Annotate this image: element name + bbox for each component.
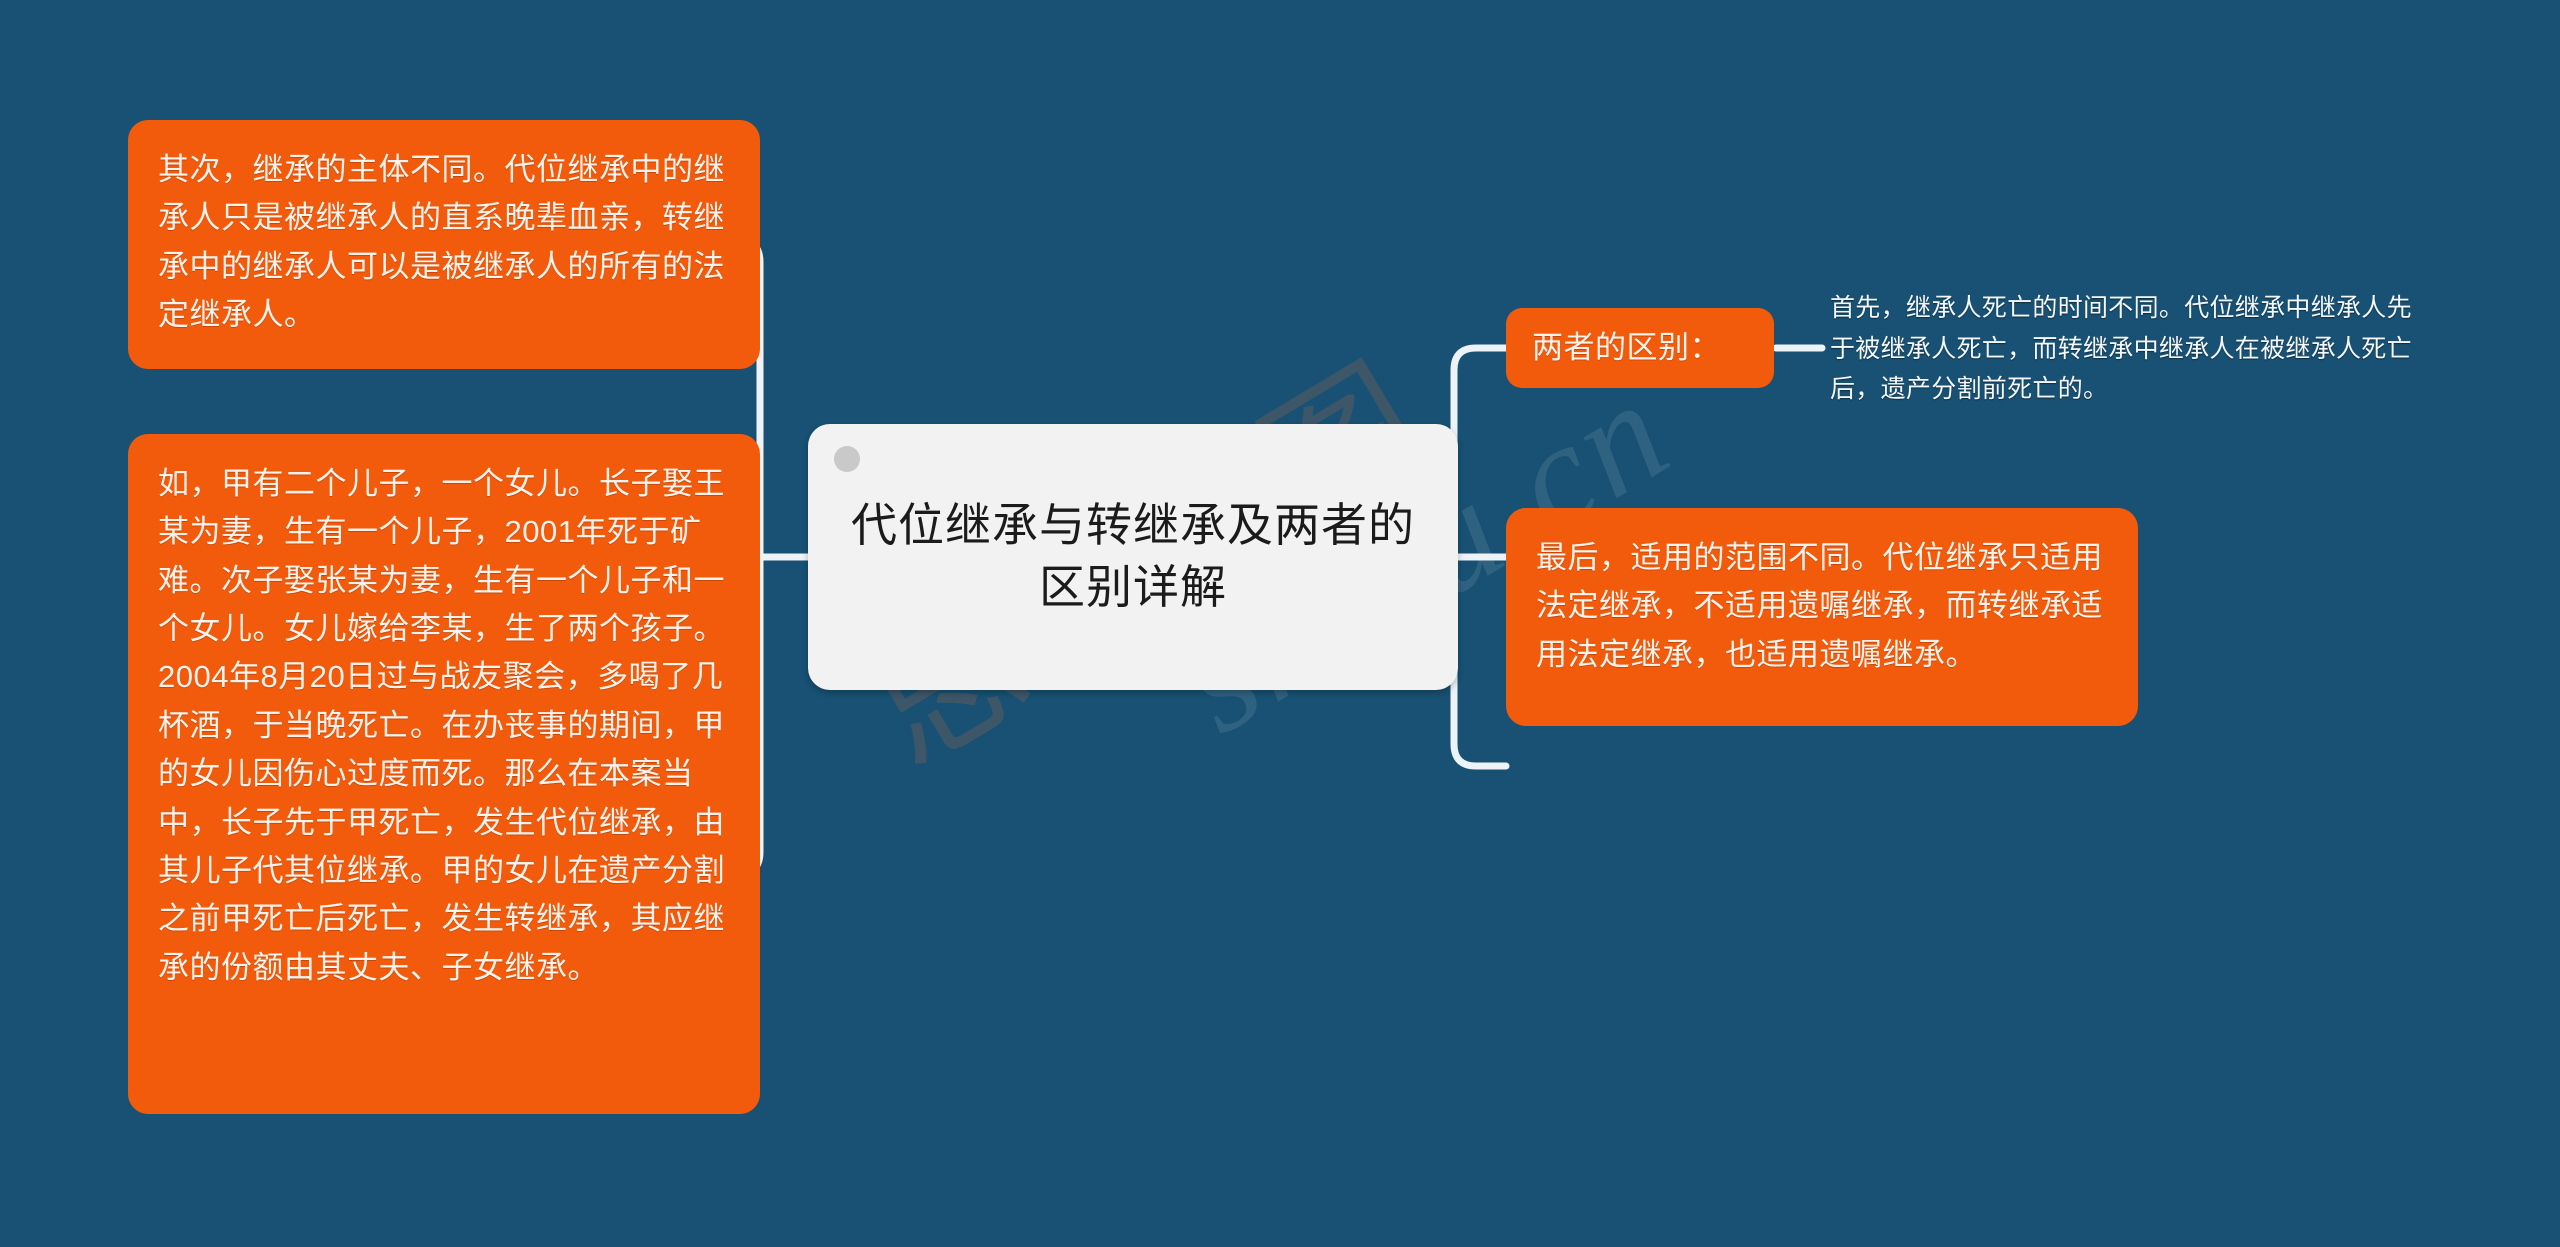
node-subject-difference[interactable]: 其次，继承的主体不同。代位继承中的继承人只是被继承人的直系晚辈血亲，转继承中的继…: [128, 120, 760, 369]
node-time-difference-label: 首先，继承人死亡的时间不同。代位继承中继承人先于被继承人死亡，而转继承中继承人在…: [1830, 294, 2412, 403]
node-root-topic[interactable]: 代位继承与转继承及两者的区别详解: [808, 424, 1458, 690]
node-scope-difference-label: 最后，适用的范围不同。代位继承只适用法定继承，不适用遗嘱继承，而转继承适用法定继…: [1536, 534, 2108, 679]
collapse-dot-icon[interactable]: [834, 446, 860, 472]
node-differences-heading[interactable]: 两者的区别：: [1506, 308, 1774, 388]
node-case-example-label: 如，甲有二个儿子，一个女儿。长子娶王某为妻，生有一个儿子，2001年死于矿难。次…: [158, 460, 730, 992]
mindmap-canvas: 思维导图 shutu.cn 其次，继承的主体不同。代位继承中的继承人只是被继承人…: [0, 0, 2560, 1247]
node-scope-difference[interactable]: 最后，适用的范围不同。代位继承只适用法定继承，不适用遗嘱继承，而转继承适用法定继…: [1506, 508, 2138, 726]
node-case-example[interactable]: 如，甲有二个儿子，一个女儿。长子娶王某为妻，生有一个儿子，2001年死于矿难。次…: [128, 434, 760, 1114]
node-subject-difference-label: 其次，继承的主体不同。代位继承中的继承人只是被继承人的直系晚辈血亲，转继承中的继…: [158, 146, 730, 339]
node-time-difference[interactable]: 首先，继承人死亡的时间不同。代位继承中继承人先于被继承人死亡，而转继承中继承人在…: [1830, 288, 2428, 410]
node-differences-heading-label: 两者的区别：: [1532, 324, 1721, 372]
node-root-topic-label: 代位继承与转继承及两者的区别详解: [808, 495, 1458, 618]
